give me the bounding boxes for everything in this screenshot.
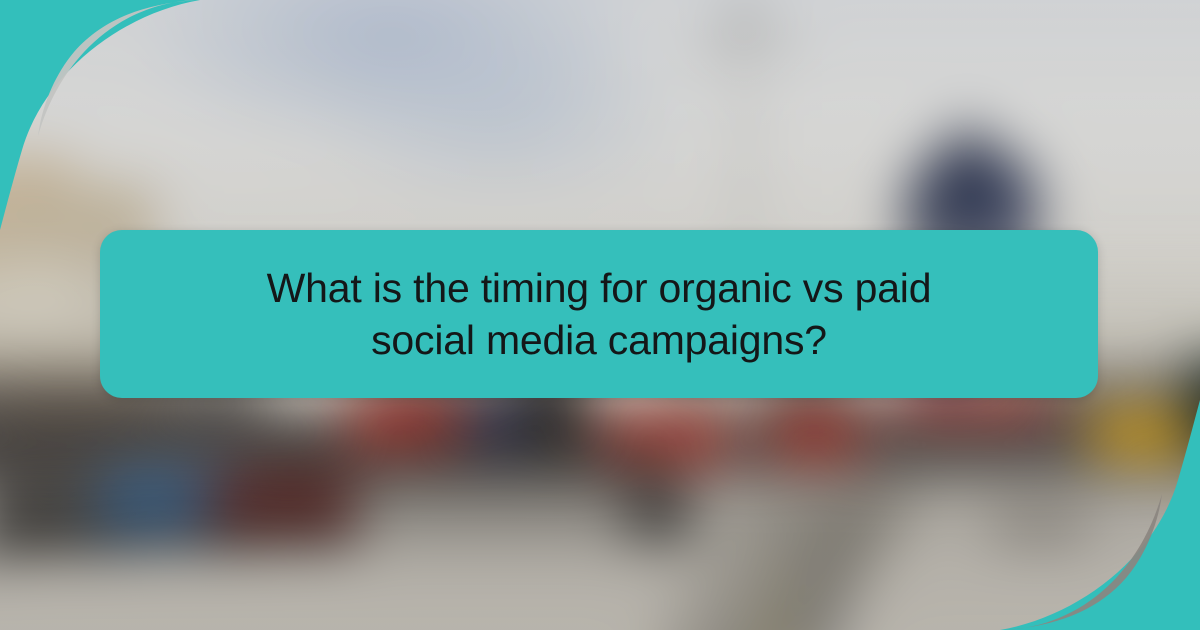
screenshot-canvas: What is the timing for organic vs paid s… (0, 0, 1200, 630)
question-card: What is the timing for organic vs paid s… (100, 230, 1098, 398)
question-text: What is the timing for organic vs paid s… (229, 262, 969, 367)
